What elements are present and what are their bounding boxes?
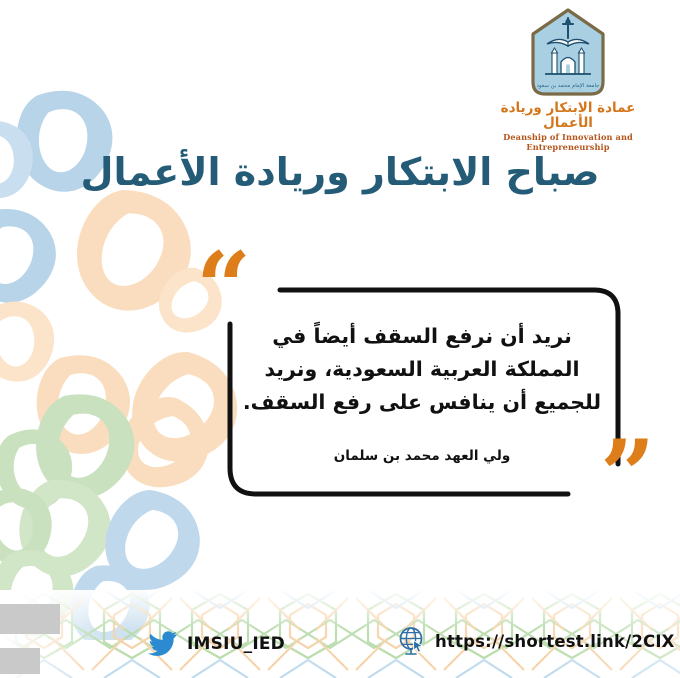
twitter-handle-label: IMSIU_IED	[187, 634, 285, 654]
logo-arabic-name: عمادة الابتكار وريادة الأعمال	[478, 101, 658, 131]
website-link-item[interactable]: https://shortest.link/2CIX	[398, 626, 675, 656]
svg-text:جامعة الإمام محمد بن سعود: جامعة الإمام محمد بن سعود	[537, 83, 600, 89]
quote-text: نريد أن نرفع السقف أيضاً في المملكة العر…	[232, 320, 612, 420]
deanship-logo: جامعة الإمام محمد بن سعود عمادة الابتكار…	[478, 8, 658, 152]
twitter-handle-item[interactable]: IMSIU_IED	[148, 631, 285, 656]
poster-canvas: جامعة الإمام محمد بن سعود عمادة الابتكار…	[0, 0, 680, 678]
closing-quote-mark: ”	[600, 428, 655, 524]
website-url-label: https://shortest.link/2CIX	[435, 632, 675, 651]
logo-english-name: Deanship of Innovation and Entrepreneurs…	[478, 132, 658, 152]
quote-card: “ نريد أن نرفع السقف أيضاً في المملكة ال…	[196, 262, 656, 520]
twitter-bird-icon[interactable]	[148, 631, 178, 656]
globe-cursor-icon[interactable]	[398, 626, 426, 656]
quote-author: ولي العهد محمد بن سلمان	[232, 448, 612, 464]
page-title: صباح الابتكار وريادة الأعمال	[0, 150, 680, 194]
university-shield-logo-icon: جامعة الإمام محمد بن سعود	[525, 8, 611, 98]
footer: IMSIU_IED https://shortest.link/2CIX	[0, 590, 680, 678]
